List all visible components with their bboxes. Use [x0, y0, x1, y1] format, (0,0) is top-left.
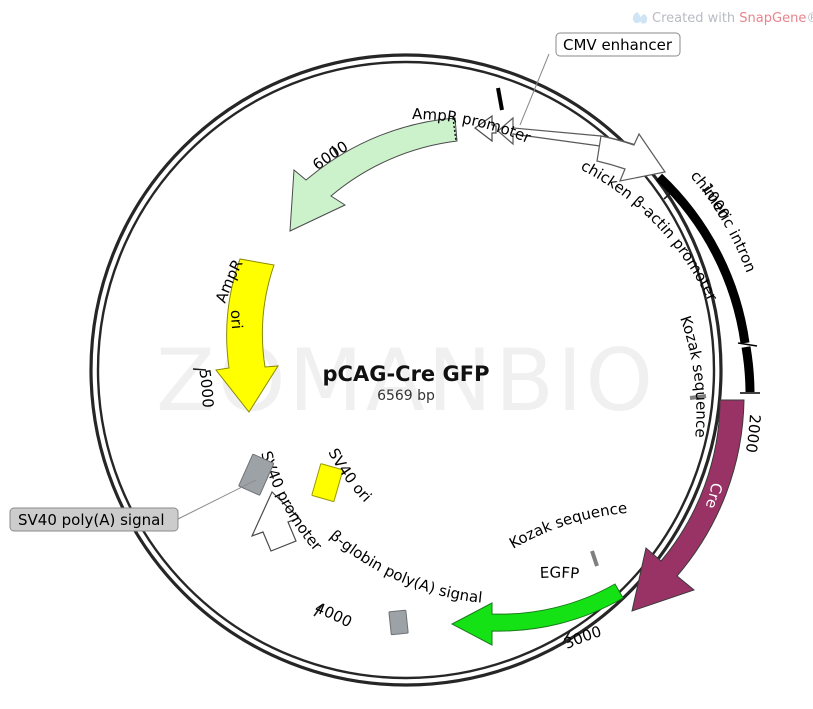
sv40-polya-leader-line — [178, 480, 256, 519]
plasmid-title: pCAG-Cre GFP — [323, 362, 490, 386]
kozak-sequence-2-tick[interactable] — [592, 551, 597, 566]
ori-label: ori — [227, 310, 246, 330]
feature-cre[interactable]: Cre — [632, 400, 744, 611]
egfp-label: EGFP — [539, 564, 579, 583]
callout-sv40-polya-signal[interactable]: SV40 poly(A) signal — [10, 480, 256, 531]
callout-cmv-enhancer[interactable]: CMV enhancer — [520, 33, 680, 125]
beta-globin-polya-box[interactable] — [389, 610, 408, 635]
snapgene-logo-icon — [633, 12, 647, 24]
registered-mark: ® — [806, 11, 813, 26]
origin-marker-tick — [498, 88, 502, 110]
cmv-enhancer-callout-label: CMV enhancer — [563, 36, 673, 54]
cmv-enhancer-leader-line — [520, 54, 549, 125]
plasmid-map-canvas: ZOMANBIO Created with SnapGene® 1000 — [0, 0, 813, 709]
kozak-sequence-2-label: Kozak sequence — [506, 499, 628, 553]
plasmid-map-svg: ZOMANBIO Created with SnapGene® 1000 — [0, 0, 813, 709]
plasmid-size: 6569 bp — [377, 388, 435, 404]
snapgene-branding: Created with SnapGene® — [633, 11, 813, 26]
created-with-text: Created with SnapGene® — [652, 11, 813, 26]
feature-kozak-sequence-2[interactable]: Kozak sequence — [506, 499, 628, 566]
sv40-polya-callout-label: SV40 poly(A) signal — [18, 511, 164, 529]
kozak-sequence-1-label: Kozak sequence — [676, 313, 710, 438]
beta-globin-polya-label: β-globin poly(A) signal — [326, 526, 483, 606]
feature-sv40-ori[interactable]: SV40 ori — [312, 445, 375, 506]
snapgene-wordmark: SnapGene — [739, 11, 806, 26]
ampr-arrow[interactable] — [290, 118, 457, 231]
tick-label-4000: 4000 — [312, 599, 355, 631]
tick-label-3000: 3000 — [561, 622, 604, 653]
intron-edge-tick-top — [738, 343, 757, 346]
cre-arrow[interactable] — [632, 400, 744, 611]
created-with-label: Created with — [652, 11, 739, 26]
tick-label-2000: 2000 — [742, 414, 764, 454]
feature-chimeric-intron-segment-2[interactable] — [738, 343, 760, 393]
feature-kozak-sequence-1[interactable]: Kozak sequence — [676, 313, 710, 438]
chimeric-intron-bar-2[interactable] — [746, 347, 750, 392]
